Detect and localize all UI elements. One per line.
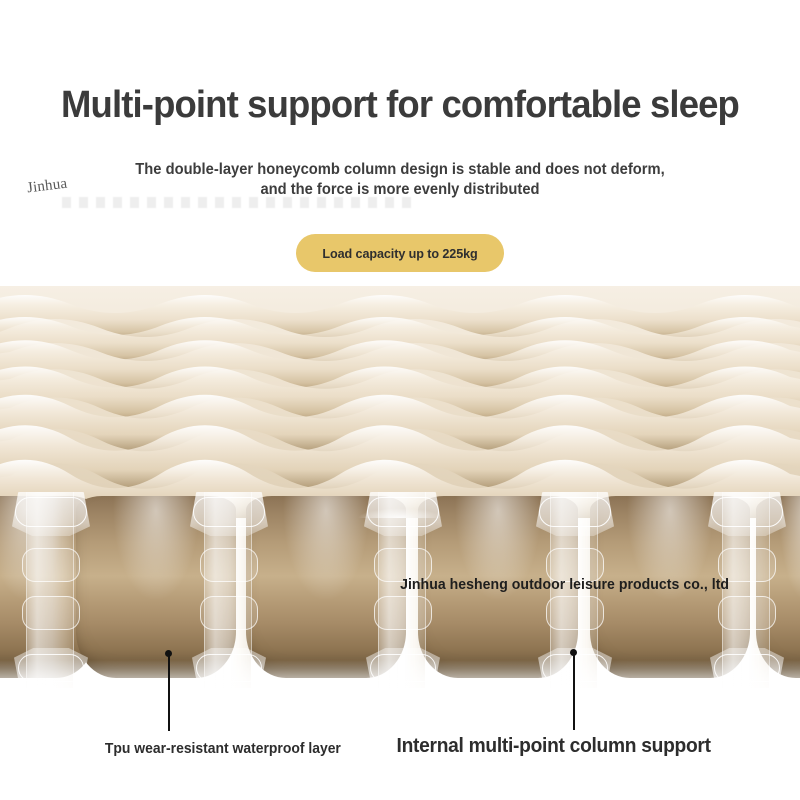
column-joint	[22, 596, 80, 630]
callout-leader-line-columns	[573, 654, 575, 730]
callout-label-tpu-layer: Tpu wear-resistant waterproof layer	[105, 741, 341, 757]
support-column	[722, 492, 770, 688]
subtitle-line-1: The double-layer honeycomb column design…	[110, 160, 690, 180]
product-photo	[0, 286, 800, 706]
column-cap	[708, 492, 786, 536]
callout-label-internal-columns: Internal multi-point column support	[397, 735, 711, 758]
support-column	[204, 492, 252, 688]
wave-ridges-graphic	[0, 286, 800, 518]
bottom-fade-overlay	[0, 660, 800, 706]
product-marketing-banner: Multi-point support for comfortable slee…	[0, 0, 800, 800]
callout-leader-line-tpu	[168, 655, 170, 731]
column-cap-outline	[367, 497, 439, 527]
column-joint	[22, 548, 80, 582]
column-cap	[536, 492, 614, 536]
column-joint	[374, 596, 432, 630]
quilted-top-surface	[0, 286, 800, 518]
subtitle-block: The double-layer honeycomb column design…	[110, 160, 690, 200]
load-capacity-badge: Load capacity up to 225kg	[296, 234, 504, 272]
load-capacity-label: Load capacity up to 225kg	[322, 246, 477, 261]
column-joint	[546, 596, 604, 630]
page-title: Multi-point support for comfortable slee…	[16, 84, 784, 127]
watermark-brand-short: Jinhua	[26, 176, 68, 198]
column-cap	[190, 492, 268, 536]
support-column	[26, 492, 74, 688]
column-joint	[718, 596, 776, 630]
column-cap-outline	[539, 497, 611, 527]
watermark-company-name: Jinhua hesheng outdoor leisure products …	[400, 577, 729, 593]
column-cap-outline	[193, 497, 265, 527]
column-cap-outline	[711, 497, 783, 527]
column-cap	[364, 492, 442, 536]
column-joint	[200, 548, 258, 582]
column-joint	[200, 596, 258, 630]
column-cap-outline	[15, 497, 87, 527]
column-cap	[12, 492, 90, 536]
watermark-faint-row	[62, 197, 412, 208]
